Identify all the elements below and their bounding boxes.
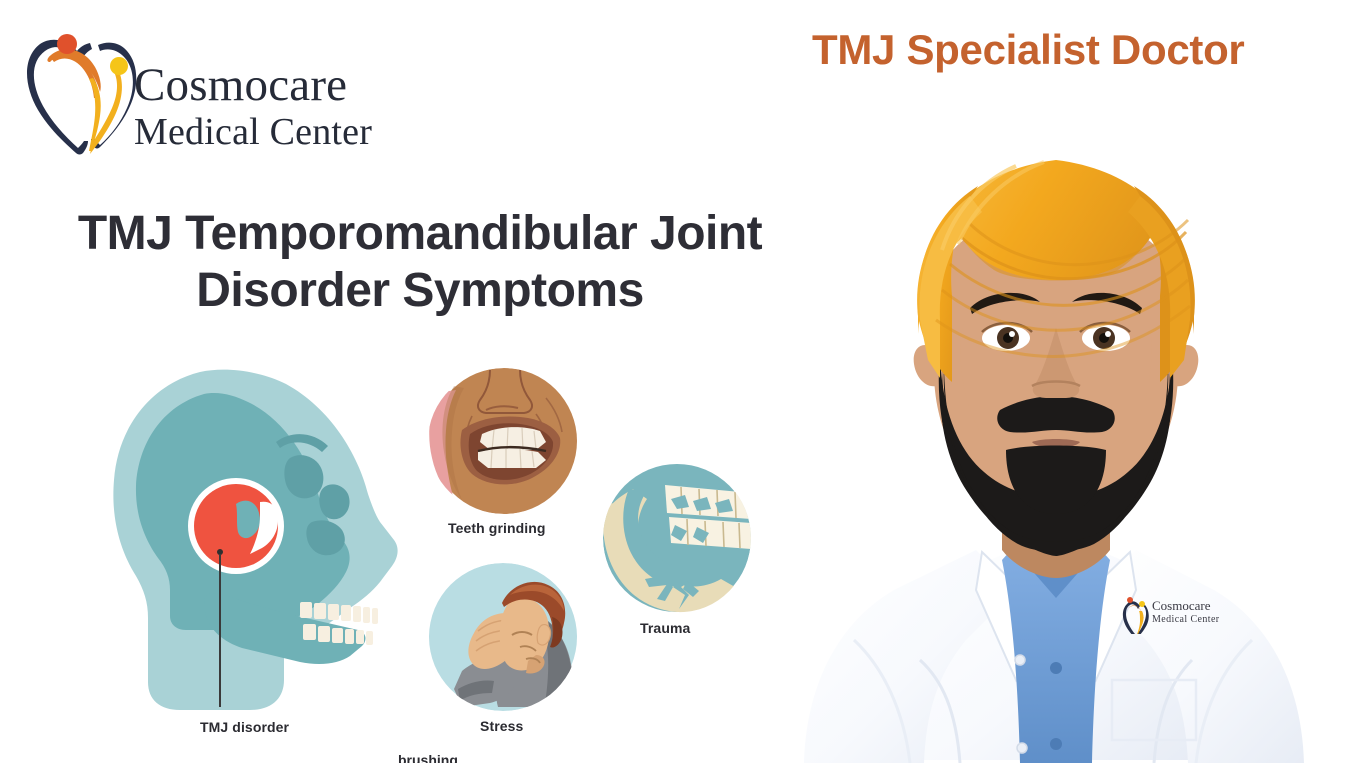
doctor-portrait (744, 120, 1366, 763)
coat-brand-logo: Cosmocare Medical Center (1122, 594, 1252, 638)
label-tmj-disorder: TMJ disorder (200, 719, 289, 735)
label-stress: Stress (480, 718, 523, 734)
skull-profile-tmj-icon (100, 352, 430, 752)
tmj-illustration-group: TMJ disorder (100, 352, 800, 763)
brand-logo[interactable]: Cosmocare Medical Center (20, 18, 390, 158)
cosmocare-heart-logo-icon (20, 18, 146, 158)
poster-canvas: Cosmocare Medical Center TMJ Specialist … (0, 0, 1366, 763)
logo-dot-yellow (110, 57, 128, 75)
symptom-icon-trauma (603, 463, 751, 613)
bottom-cutoff-label: brushing (398, 752, 458, 763)
brand-wordmark: Cosmocare Medical Center (134, 62, 394, 155)
coat-logo-line1: Cosmocare (1152, 598, 1220, 614)
label-trauma: Trauma (640, 620, 690, 636)
coat-logo-line2: Medical Center (1152, 614, 1220, 627)
symptom-icon-teeth-grinding (428, 368, 580, 514)
logo-dot-red (57, 34, 77, 54)
page-title: TMJ Temporomandibular Joint Disorder Sym… (20, 206, 820, 319)
page-title-line1: TMJ Temporomandibular Joint (20, 206, 820, 263)
headline-tmj-specialist-doctor: TMJ Specialist Doctor (812, 26, 1282, 74)
cosmocare-heart-logo-small-icon (1122, 594, 1150, 634)
page-title-line2: Disorder Symptoms (20, 263, 820, 320)
brand-name-line2: Medical Center (134, 111, 394, 155)
label-teeth-grinding: Teeth grinding (448, 520, 546, 536)
symptom-icon-stress (428, 563, 578, 711)
brand-name-line1: Cosmocare (134, 62, 394, 109)
